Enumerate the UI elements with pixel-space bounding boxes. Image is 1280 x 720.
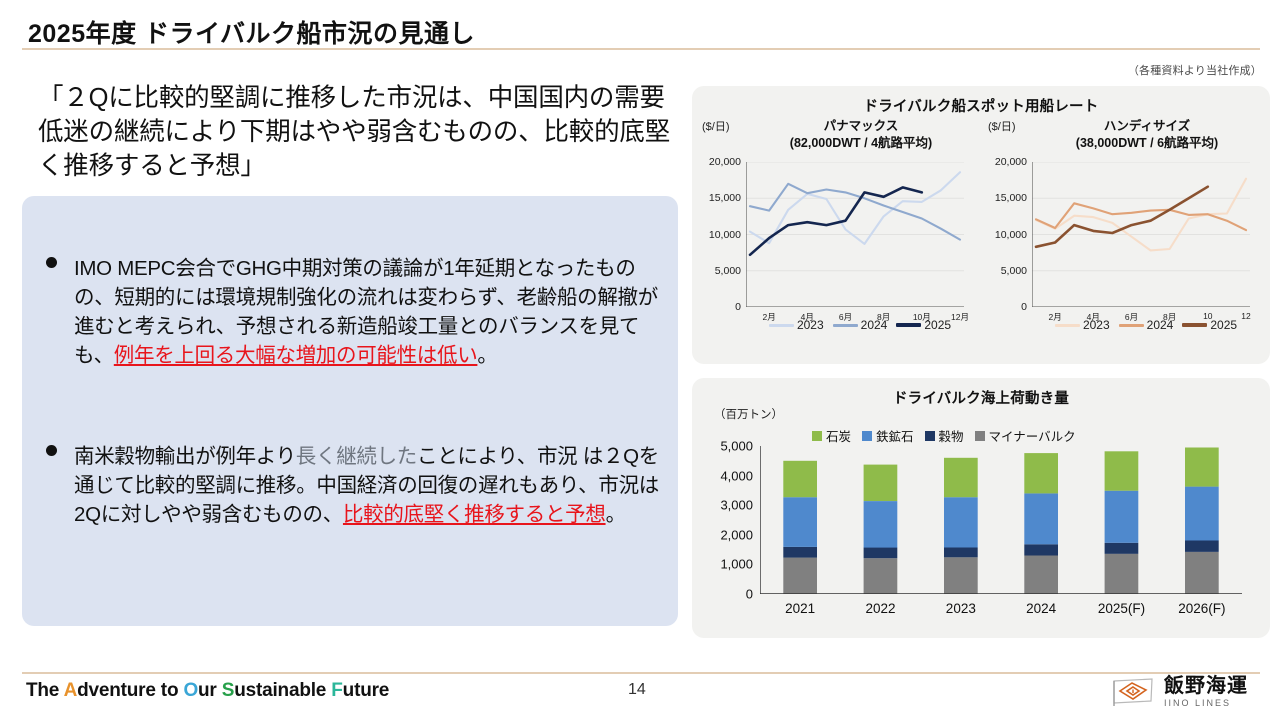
legend-label: 2024 [861, 318, 888, 332]
volume-plot-area: 5,0004,0003,0002,0001,000020212022202320… [760, 446, 1242, 594]
legend-label: 石炭 [826, 426, 851, 445]
bar-segment [1105, 451, 1139, 490]
bar-segment [1024, 493, 1058, 544]
legend-swatch [769, 324, 794, 327]
tagline-part: S [222, 680, 234, 701]
y-axis-tick-label: 0 [746, 587, 753, 602]
panamax-heading: パナマックス (82,000DWT / 4航路平均) [750, 118, 972, 152]
legend-item: 穀物 [925, 426, 964, 445]
handysize-title: ハンディサイズ [1036, 118, 1258, 135]
panamax-chart: ($/日) パナマックス (82,000DWT / 4航路平均) 20,0001… [698, 118, 978, 356]
tagline-part: A [64, 680, 78, 701]
x-axis-category-label: 2026(F) [1178, 601, 1225, 616]
legend-swatch [1182, 323, 1207, 327]
bar-segment [864, 558, 898, 594]
panamax-title: パナマックス [750, 118, 972, 135]
handysize-subtitle: (38,000DWT / 6航路平均) [1036, 135, 1258, 152]
legend-item: 2023 [769, 318, 824, 332]
volume-y-unit: （百万トン） [714, 406, 783, 422]
bar-segment [1185, 540, 1219, 552]
y-axis-tick-label: 20,000 [995, 156, 1027, 168]
handysize-legend: 202320242025 [1028, 318, 1264, 332]
volume-panel: ドライバルク海上荷動き量 （百万トン） 石炭鉄鉱石穀物マイナーバルク 5,000… [692, 378, 1270, 638]
y-axis-tick-label: 5,000 [715, 265, 741, 277]
bar-segment [1185, 552, 1219, 594]
y-axis-tick-label: 1,000 [720, 557, 753, 572]
spot-rate-panel: ドライバルク船スポット用船レート ($/日) パナマックス (82,000DWT… [692, 86, 1270, 364]
legend-label: 2025 [1210, 318, 1237, 332]
bar-segment [783, 558, 817, 594]
logo-en: IINO LINES [1164, 699, 1248, 708]
legend-item: 鉄鉱石 [862, 426, 914, 445]
bar-segment [1024, 544, 1058, 555]
bullet-2-highlight: 比較的底堅く推移すると予想 [343, 503, 606, 526]
tagline-part: F [331, 680, 342, 701]
handysize-y-unit: ($/日) [988, 118, 1016, 134]
legend-item: 石炭 [812, 426, 851, 445]
footer-tagline: The Adventure to Our Sustainable Future [26, 680, 389, 702]
x-axis-category-label: 2022 [865, 601, 895, 616]
y-axis-tick-label: 20,000 [709, 156, 741, 168]
line-series [1036, 203, 1246, 230]
legend-item: マイナーバルク [975, 426, 1076, 445]
bullet-dot-icon [46, 445, 57, 456]
legend-swatch [1055, 324, 1080, 327]
panamax-legend: 202320242025 [742, 318, 978, 332]
tagline-part: ur [198, 680, 222, 701]
bar-segment [864, 548, 898, 559]
y-axis-tick-label: 15,000 [709, 192, 741, 204]
bullet-2-faint: 長く継続した [296, 445, 417, 468]
bar-segment [944, 458, 978, 497]
legend-swatch [862, 431, 872, 441]
bar-chart-svg [760, 446, 1242, 594]
tagline-part: The [26, 680, 64, 701]
bar-segment [944, 548, 978, 558]
tagline-part: dventure to [77, 680, 183, 701]
tagline-part: uture [343, 680, 390, 701]
legend-swatch [1119, 324, 1144, 327]
bar-segment [783, 547, 817, 558]
y-axis-tick-label: 15,000 [995, 192, 1027, 204]
bar-segment [864, 465, 898, 501]
logo-text: 飯野海運 IINO LINES [1164, 676, 1248, 708]
bar-segment [1024, 453, 1058, 493]
bar-segment [944, 557, 978, 594]
line-chart-svg [1032, 162, 1250, 307]
line-series [750, 187, 922, 254]
bullet-2-text-c: 。 [606, 503, 626, 526]
title-divider [22, 48, 1260, 50]
company-logo: 飯野海運 IINO LINES [1110, 676, 1248, 708]
bullet-dot-icon [46, 257, 57, 268]
legend-swatch [812, 431, 822, 441]
legend-label: 2025 [924, 318, 951, 332]
legend-swatch [975, 431, 985, 441]
bullet-item-2: 南米穀物輸出が例年より長く継続したことにより、市況 は２Qを通じて比較的堅調に推… [74, 442, 670, 529]
volume-legend: 石炭鉄鉱石穀物マイナーバルク [812, 426, 1076, 445]
x-axis-category-label: 2021 [785, 601, 815, 616]
legend-label: 2023 [797, 318, 824, 332]
page-number: 14 [628, 681, 646, 699]
volume-panel-title: ドライバルク海上荷動き量 [692, 387, 1270, 408]
handysize-plot-area: 20,00015,00010,0005,00002月4月6月8月1012 [1032, 162, 1250, 307]
page-title: 2025年度 ドライバルク船市況の見通し [28, 14, 475, 50]
bar-segment [1105, 543, 1139, 554]
legend-item: 2024 [833, 318, 888, 332]
legend-swatch [925, 431, 935, 441]
bullet-panel: IMO MEPC会合でGHG中期対策の議論が1年延期となったものの、短期的には環… [22, 196, 678, 626]
handysize-chart: ($/日) ハンディサイズ (38,000DWT / 6航路平均) 20,000… [984, 118, 1264, 356]
panamax-subtitle: (82,000DWT / 4航路平均) [750, 135, 972, 152]
bar-segment [864, 501, 898, 547]
bar-segment [783, 461, 817, 497]
tagline-part: O [183, 680, 198, 701]
legend-item: 2025 [1182, 318, 1237, 332]
y-axis-tick-label: 2,000 [720, 527, 753, 542]
y-axis-tick-label: 5,000 [720, 439, 753, 454]
bar-segment [783, 497, 817, 547]
y-axis-tick-label: 0 [1021, 301, 1027, 313]
y-axis-tick-label: 10,000 [709, 229, 741, 241]
spot-rate-panel-title: ドライバルク船スポット用船レート [692, 95, 1270, 116]
legend-label: 2024 [1147, 318, 1174, 332]
panamax-plot-area: 20,00015,00010,0005,00002月4月6月8月10月12月 [746, 162, 964, 307]
logo-jp: 飯野海運 [1164, 676, 1248, 696]
lead-statement: 「２Qに比較的堅調に推移した市況は、中国国内の需要低迷の継続により下期はやや弱含… [38, 82, 678, 184]
bullet-2-text-a: 南米穀物輸出が例年より [74, 445, 296, 468]
line-series [1036, 179, 1246, 251]
footer-divider [22, 672, 1260, 674]
legend-label: 穀物 [939, 426, 964, 445]
bullet-1-text-b: 。 [477, 344, 497, 367]
y-axis-tick-label: 0 [735, 301, 741, 313]
bar-segment [944, 497, 978, 547]
line-series [1036, 187, 1208, 247]
legend-item: 2024 [1119, 318, 1174, 332]
y-axis-tick-label: 3,000 [720, 498, 753, 513]
legend-item: 2023 [1055, 318, 1110, 332]
y-axis-tick-label: 5,000 [1001, 265, 1027, 277]
legend-swatch [833, 324, 858, 327]
source-note: （各種資料より当社作成） [1128, 62, 1262, 78]
x-axis-category-label: 2024 [1026, 601, 1056, 616]
panamax-y-unit: ($/日) [702, 118, 730, 134]
line-chart-svg [746, 162, 964, 307]
x-axis-category-label: 2023 [946, 601, 976, 616]
bar-segment [1185, 487, 1219, 541]
bar-segment [1185, 448, 1219, 487]
y-axis-tick-label: 4,000 [720, 468, 753, 483]
tagline-part: ustainable [234, 680, 331, 701]
legend-label: マイナーバルク [989, 426, 1076, 445]
handysize-heading: ハンディサイズ (38,000DWT / 6航路平均) [1036, 118, 1258, 152]
y-axis-tick-label: 10,000 [995, 229, 1027, 241]
iino-flag-icon [1110, 676, 1156, 708]
legend-label: 2023 [1083, 318, 1110, 332]
bar-segment [1105, 491, 1139, 543]
bullet-1-highlight: 例年を上回る大幅な増加の可能性は低い [114, 344, 478, 367]
legend-swatch [896, 323, 921, 327]
bullet-item-1: IMO MEPC会合でGHG中期対策の議論が1年延期となったものの、短期的には環… [74, 254, 670, 370]
legend-label: 鉄鉱石 [876, 426, 914, 445]
legend-item: 2025 [896, 318, 951, 332]
bar-segment [1024, 556, 1058, 595]
x-axis-category-label: 2025(F) [1098, 601, 1145, 616]
bar-segment [1105, 554, 1139, 594]
slide: 2025年度 ドライバルク船市況の見通し （各種資料より当社作成） 「２Qに比較… [0, 0, 1280, 720]
